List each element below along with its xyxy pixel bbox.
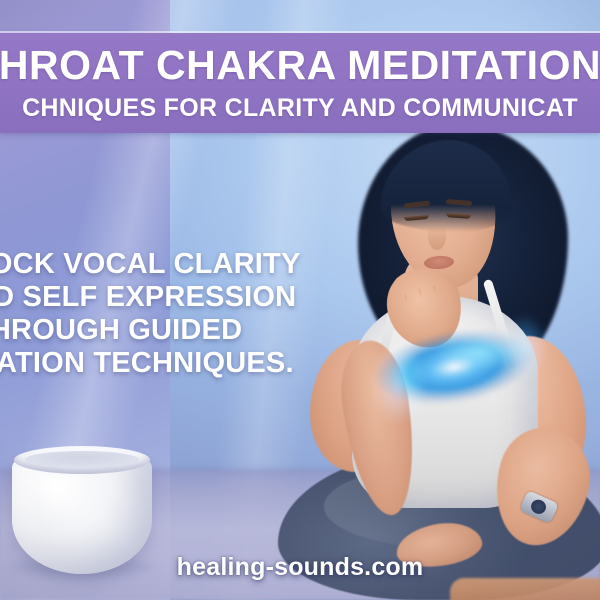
body-copy-line: LOCK VOCAL CLARITY [0,248,392,281]
body-copy-line: ITATION TECHNIQUES. [0,347,392,380]
poster-subtitle: CHNIQUES FOR CLARITY AND COMMUNICAT [22,91,578,125]
body-copy: LOCK VOCAL CLARITY ND SELF EXPRESSION TH… [0,248,392,380]
poster-title: HROAT CHAKRA MEDITATION [0,37,600,93]
chakra-energy-swirl [366,314,550,424]
body-copy-line: THROUGH GUIDED [0,314,392,347]
nose [428,224,446,250]
bowl-rim [14,446,150,474]
body-copy-line: ND SELF EXPRESSION [0,281,392,314]
website-url[interactable]: healing-sounds.com [0,553,600,582]
title-banner: HROAT CHAKRA MEDITATION CHNIQUES FOR CLA… [0,33,600,133]
poster-canvas: HROAT CHAKRA MEDITATION CHNIQUES FOR CLA… [0,0,600,600]
